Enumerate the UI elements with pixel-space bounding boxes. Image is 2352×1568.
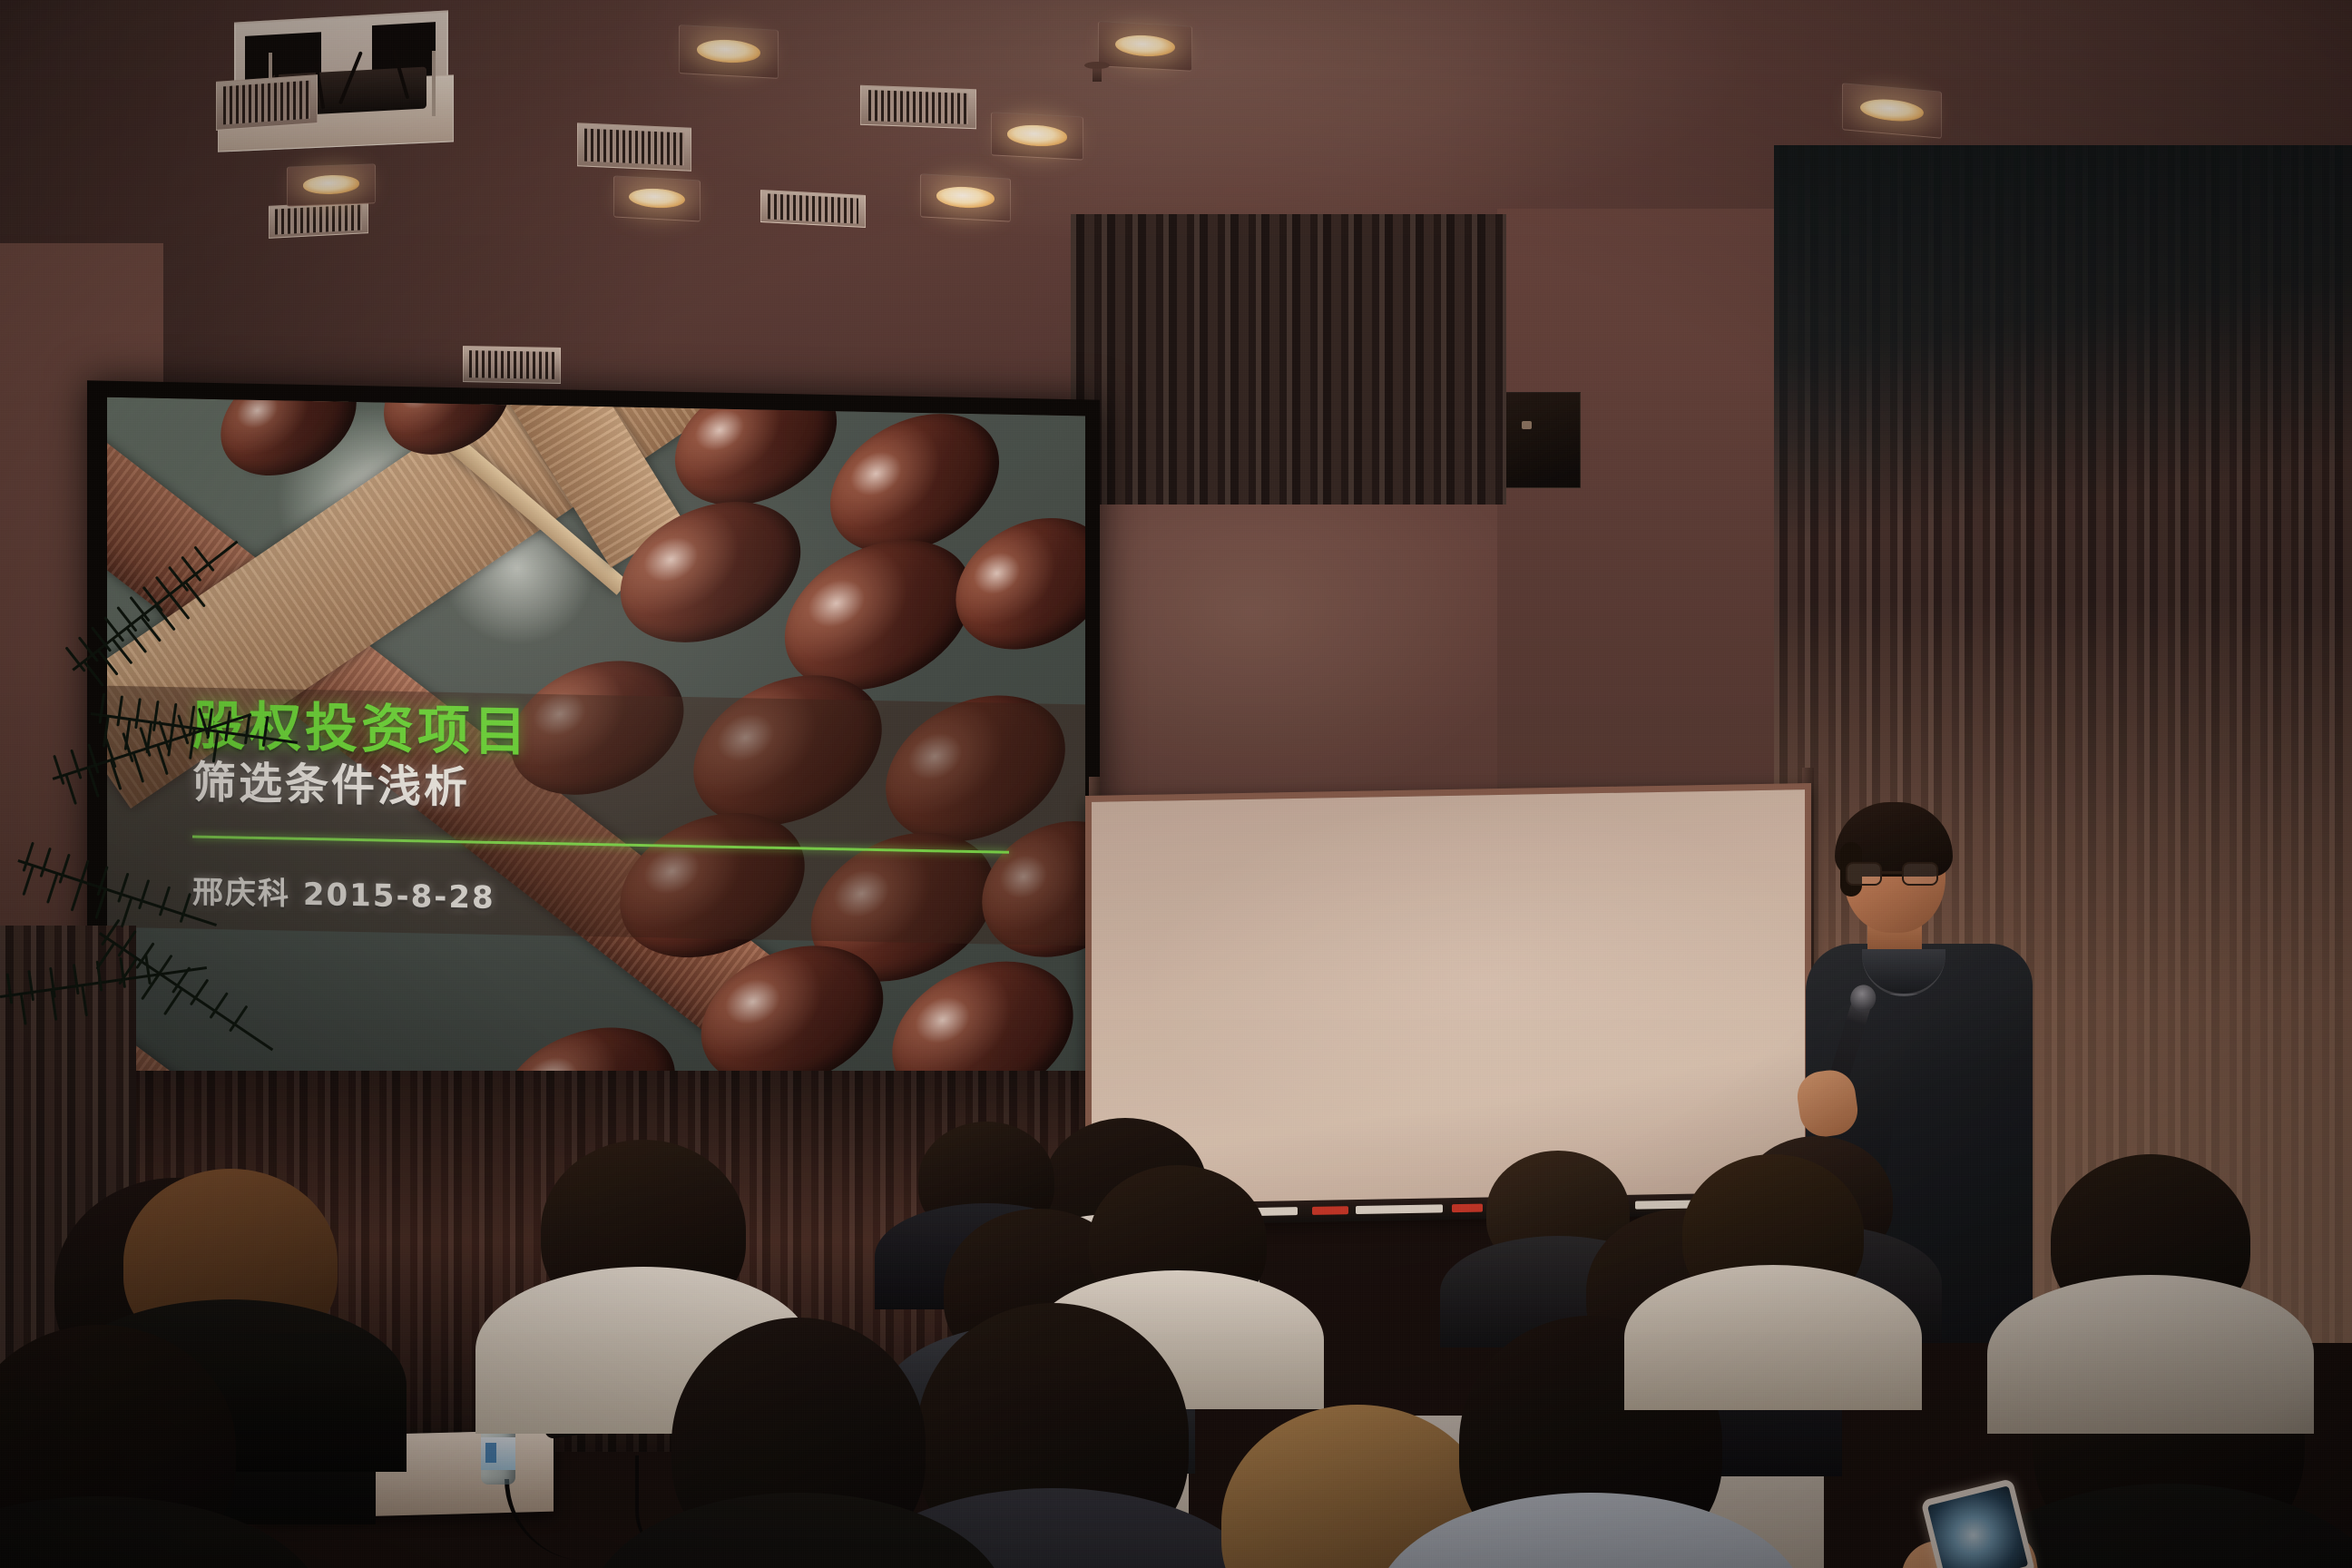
audience-person bbox=[1089, 1165, 1267, 1316]
vent-slats bbox=[584, 128, 683, 166]
equipment-cable bbox=[505, 1479, 586, 1561]
audience-person bbox=[2051, 1154, 2250, 1327]
whiteboard-marker bbox=[1452, 1204, 1483, 1213]
palm-plant bbox=[0, 626, 272, 1098]
projector-mount-rod-right bbox=[432, 51, 436, 116]
ceiling-downlight-7 bbox=[1842, 83, 1942, 139]
slide-subtitle: 筛选条件浅析 bbox=[192, 759, 882, 820]
vent-slats bbox=[469, 350, 554, 379]
air-vent-mid bbox=[760, 190, 866, 228]
air-vent-above-screen bbox=[463, 346, 561, 384]
curtain-top-shadow bbox=[1774, 145, 2352, 617]
vent-slats bbox=[275, 205, 361, 234]
ceiling-downlight-3 bbox=[287, 163, 376, 206]
bottle-label bbox=[481, 1437, 515, 1470]
photo-canvas: 股权投资项目 筛选条件浅析 邢庆科 2015-8-28 bbox=[0, 0, 2352, 1568]
audience-person bbox=[0, 1325, 236, 1568]
audience-person bbox=[916, 1303, 1189, 1568]
whiteboard-marker bbox=[1356, 1204, 1443, 1214]
glasses-icon bbox=[1846, 862, 1940, 886]
ceiling-downlight-1 bbox=[679, 24, 779, 79]
glasses-lens-right bbox=[1902, 862, 1938, 886]
sprinkler-icon-2 bbox=[1093, 65, 1102, 82]
ceiling-downlight-6 bbox=[1098, 21, 1192, 71]
air-vent-upper bbox=[577, 122, 691, 171]
whiteboard-marker bbox=[1312, 1206, 1348, 1215]
smartphone-screen[interactable] bbox=[1927, 1485, 2028, 1568]
ceiling-downlight-5 bbox=[991, 112, 1083, 160]
air-vent-left bbox=[216, 74, 318, 131]
air-vent-center bbox=[269, 201, 368, 239]
slide-text-block: 股权投资项目 筛选条件浅析 邢庆科 2015-8-28 bbox=[192, 699, 882, 925]
audience-person bbox=[541, 1140, 746, 1321]
ceiling-downlight-4 bbox=[920, 173, 1011, 221]
curtain-behind-whiteboard bbox=[1071, 214, 1506, 505]
wall-speaker-icon bbox=[1501, 392, 1581, 488]
audience-person bbox=[1682, 1154, 1864, 1312]
ceiling-downlight-2 bbox=[613, 175, 701, 221]
air-vent-right bbox=[860, 85, 976, 129]
vent-slats bbox=[868, 90, 969, 123]
palm-frond bbox=[96, 926, 278, 1055]
vent-slats bbox=[768, 194, 858, 223]
vent-slats bbox=[223, 81, 311, 124]
glasses-bridge bbox=[1882, 871, 1902, 874]
smartphone[interactable] bbox=[1920, 1478, 2035, 1568]
glasses-lens-left bbox=[1846, 862, 1882, 886]
audience-person bbox=[671, 1318, 926, 1568]
